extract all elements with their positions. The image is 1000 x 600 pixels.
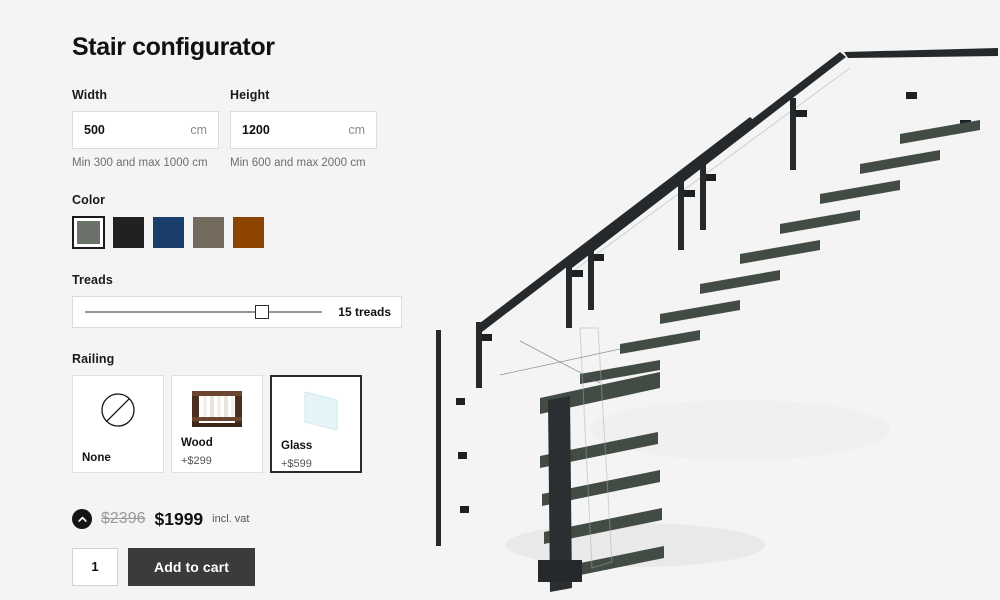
glass-panel-icon (281, 388, 351, 434)
color-swatch-sage-green[interactable] (72, 216, 105, 249)
railing-option-price: +$599 (281, 458, 351, 470)
railing-option-title: Glass (281, 440, 351, 452)
railing-option-none[interactable]: None (72, 375, 164, 473)
price-vat-note: incl. vat (212, 513, 249, 525)
add-to-cart-button[interactable]: Add to cart (128, 548, 255, 586)
height-input[interactable]: 1200 cm (230, 111, 377, 149)
treads-value-label: 15 treads (338, 305, 391, 319)
page-title: Stair configurator (72, 34, 402, 62)
treads-slider-track-area[interactable] (83, 297, 328, 327)
width-hint: Min 300 and max 1000 cm (72, 157, 219, 169)
height-label: Height (230, 88, 377, 102)
swatch-fill (193, 217, 224, 248)
color-swatch-taupe-grey[interactable] (192, 216, 225, 249)
dimensions-row: Width 500 cm Min 300 and max 1000 cm Hei… (72, 88, 402, 169)
railing-option-title: Wood (181, 437, 253, 449)
color-swatch-rust-orange[interactable] (232, 216, 265, 249)
stair-preview-viewport[interactable]: 0%#f2f6f6 100%#e4ecec 0%#6e7a70 100%#566… (420, 0, 1000, 600)
no-symbol-icon (82, 387, 154, 434)
treads-slider-thumb[interactable] (255, 305, 269, 319)
color-swatch-navy-blue[interactable] (152, 216, 185, 249)
price-row: $2396 $1999 incl. vat (72, 509, 402, 530)
railing-option-price: +$299 (181, 455, 253, 467)
width-unit: cm (190, 123, 207, 137)
railing-option-list: None (72, 375, 402, 473)
swatch-fill (77, 221, 100, 244)
railing-label: Railing (72, 352, 402, 366)
swatch-fill (233, 217, 264, 248)
color-swatch-charcoal-black[interactable] (112, 216, 145, 249)
treads-label: Treads (72, 273, 402, 287)
railing-section: Railing None (72, 352, 402, 473)
height-field-group: Height 1200 cm Min 600 and max 2000 cm (230, 88, 377, 169)
treads-slider-track (85, 311, 322, 312)
railing-option-title: None (82, 452, 154, 464)
color-swatch-list (72, 216, 402, 249)
height-unit: cm (348, 123, 365, 137)
price-original: $2396 (101, 510, 146, 528)
cart-row: 1 Add to cart (72, 548, 402, 586)
chevron-up-icon[interactable] (72, 509, 92, 529)
color-label: Color (72, 193, 402, 207)
railing-option-glass[interactable]: Glass +$599 (270, 375, 362, 473)
wood-railing-icon (181, 387, 253, 431)
color-section: Color (72, 193, 402, 249)
configurator-panel: Stair configurator Width 500 cm Min 300 … (72, 34, 402, 586)
configurator-page: Stair configurator Width 500 cm Min 300 … (0, 0, 1000, 600)
width-input-value: 500 (84, 123, 190, 137)
swatch-fill (113, 217, 144, 248)
quantity-input[interactable]: 1 (72, 548, 118, 586)
treads-section: Treads 15 treads (72, 273, 402, 328)
price-current: $1999 (155, 509, 204, 530)
width-field-group: Width 500 cm Min 300 and max 1000 cm (72, 88, 219, 169)
height-hint: Min 600 and max 2000 cm (230, 157, 377, 169)
railing-option-wood[interactable]: Wood +$299 (171, 375, 263, 473)
width-input[interactable]: 500 cm (72, 111, 219, 149)
width-label: Width (72, 88, 219, 102)
swatch-fill (153, 217, 184, 248)
treads-slider-container[interactable]: 15 treads (72, 296, 402, 328)
stair-3d-render: 0%#f2f6f6 100%#e4ecec 0%#6e7a70 100%#566… (420, 0, 1000, 600)
height-input-value: 1200 (242, 123, 348, 137)
